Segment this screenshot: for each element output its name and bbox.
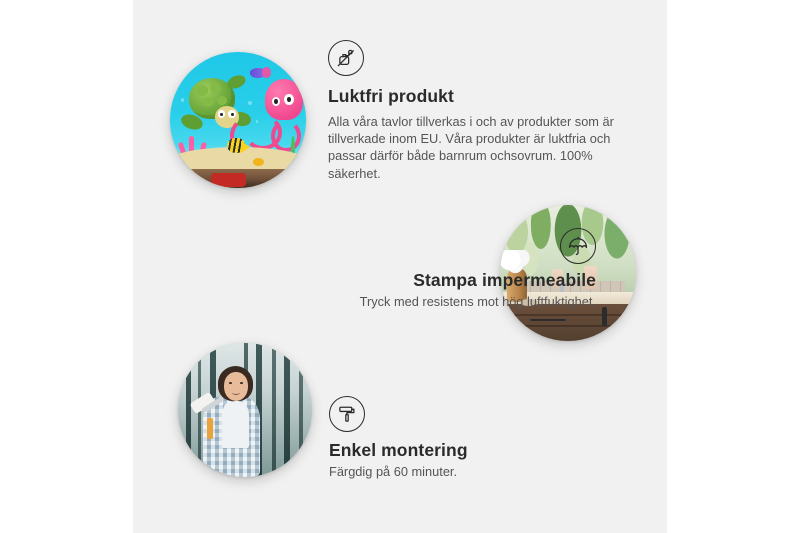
umbrella-icon [560, 228, 596, 264]
sea-illustration [170, 52, 306, 188]
feature-title: Luktfri produkt [328, 86, 628, 107]
photo-sea [170, 52, 306, 188]
feature-description: Färgdig på 60 minuter. [329, 463, 589, 480]
feature-waterproof: Stampa impermeabile Tryck med resistens … [213, 228, 596, 310]
feature-mounting: Enkel montering Färgdig på 60 minuter. [329, 396, 589, 480]
no-spray-bottle-icon [328, 40, 364, 76]
photo-painter [178, 343, 312, 477]
paint-roller-icon [329, 396, 365, 432]
feature-title: Stampa impermeabile [213, 270, 596, 291]
feature-odourless: Luktfri produkt Alla våra tavlor tillver… [328, 40, 628, 182]
painter-illustration [178, 343, 312, 477]
content-canvas: Luktfri produkt Alla våra tavlor tillver… [133, 0, 667, 533]
feature-description: Tryck med resistens mot hög luftfuktighe… [213, 293, 596, 310]
feature-description: Alla våra tavlor tillverkas i och av pro… [328, 113, 628, 182]
product-feature-infographic: Luktfri produkt Alla våra tavlor tillver… [0, 0, 800, 533]
feature-title: Enkel montering [329, 440, 589, 461]
